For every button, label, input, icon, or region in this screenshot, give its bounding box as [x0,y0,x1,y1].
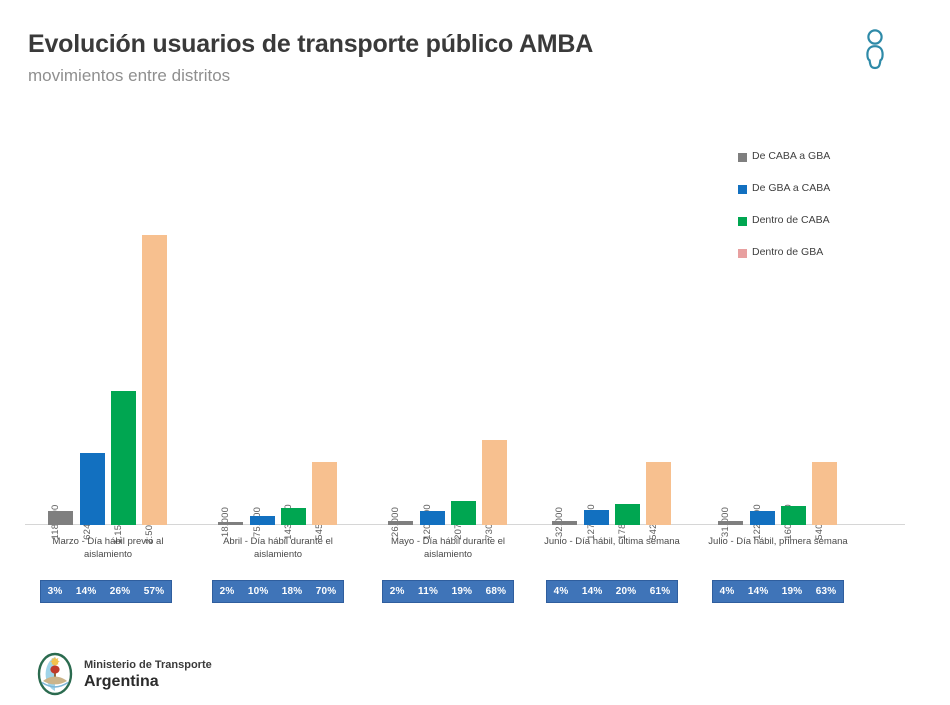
percentage-value: 19% [452,586,473,597]
percentage-value: 19% [782,586,803,597]
bar[interactable] [750,511,775,525]
bar[interactable] [781,506,806,525]
category-label-line2: aislamiento [368,548,528,561]
percentage-strip-marzo: 3% 14% 26% 57% [40,580,172,603]
category-label-line2: aislamiento [28,548,188,561]
percentage-value: 10% [248,586,269,597]
percentage-value: 18% [282,586,303,597]
percentage-value: 63% [816,586,837,597]
footer-text: Ministerio de Transporte Argentina [84,658,212,691]
percentage-value: 14% [76,586,97,597]
bar-group: 26.000 120.000 207.000 730.000 [388,150,508,525]
percentage-value: 20% [616,586,637,597]
bar[interactable] [48,511,73,525]
bar[interactable] [111,391,136,525]
bar-group: 118.000 624.000 1.157.000 2.503.000 [48,150,168,525]
percentage-value: 2% [390,586,405,597]
bar[interactable] [218,522,243,525]
bar[interactable] [615,504,640,525]
argentina-coat-of-arms-icon [36,652,74,696]
percentage-value: 68% [486,586,507,597]
bar[interactable] [552,521,577,525]
bar[interactable] [451,501,476,525]
percentage-value: 4% [720,586,735,597]
percentage-strip-abril: 2% 10% 18% 70% [212,580,344,603]
percentage-value: 70% [316,586,337,597]
bar-group: 31.000 122.000 160.000 540.000 [718,150,838,525]
category-label-line1: Mayo - Día hábil durante el [368,535,528,548]
category-label-marzo: Marzo - Día hábil previo al aislamiento [28,535,188,561]
category-label-line1: Marzo - Día hábil previo al [28,535,188,548]
percentage-value: 61% [650,586,671,597]
bar[interactable] [482,440,507,525]
percentage-value: 14% [582,586,603,597]
bar-group: 32.000 127.000 178.000 542.000 [552,150,672,525]
category-label-line1: Abril - Día hábil durante el [198,535,358,548]
percentage-strip-mayo: 2% 11% 19% 68% [382,580,514,603]
bar[interactable] [80,453,105,525]
category-label-junio: Junio - Día hábil, última semana [522,535,702,548]
bar[interactable] [312,462,337,525]
percentage-strip-julio: 4% 14% 19% 63% [712,580,844,603]
footer: Ministerio de Transporte Argentina [36,652,212,696]
bar-group: 18.000 75.000 143.000 545.000 [218,150,338,525]
bar[interactable] [142,235,167,525]
bar[interactable] [420,511,445,525]
category-label-abril: Abril - Día hábil durante el aislamiento [198,535,358,561]
percentage-value: 4% [554,586,569,597]
bar[interactable] [584,510,609,525]
bar[interactable] [388,521,413,525]
percentage-value: 57% [144,586,165,597]
bar-chart: 118.000 624.000 1.157.000 2.503.000 18.0… [0,0,950,705]
category-label-line2: aislamiento [198,548,358,561]
percentage-value: 26% [110,586,131,597]
percentage-value: 2% [220,586,235,597]
category-label-line1: Junio - Día hábil, última semana [522,535,702,548]
bar[interactable] [718,521,743,525]
percentage-value: 3% [48,586,63,597]
category-label-julio: Julio - Día hábil, primera semana [688,535,868,548]
footer-country-label: Argentina [84,672,212,691]
category-label-mayo: Mayo - Día hábil durante el aislamiento [368,535,528,561]
percentage-value: 11% [418,586,438,597]
bar[interactable] [812,462,837,525]
bar[interactable] [250,516,275,525]
footer-ministry-label: Ministerio de Transporte [84,658,212,672]
percentage-value: 14% [748,586,769,597]
bar[interactable] [646,462,671,525]
bar[interactable] [281,508,306,525]
percentage-strip-junio: 4% 14% 20% 61% [546,580,678,603]
category-label-line1: Julio - Día hábil, primera semana [688,535,868,548]
